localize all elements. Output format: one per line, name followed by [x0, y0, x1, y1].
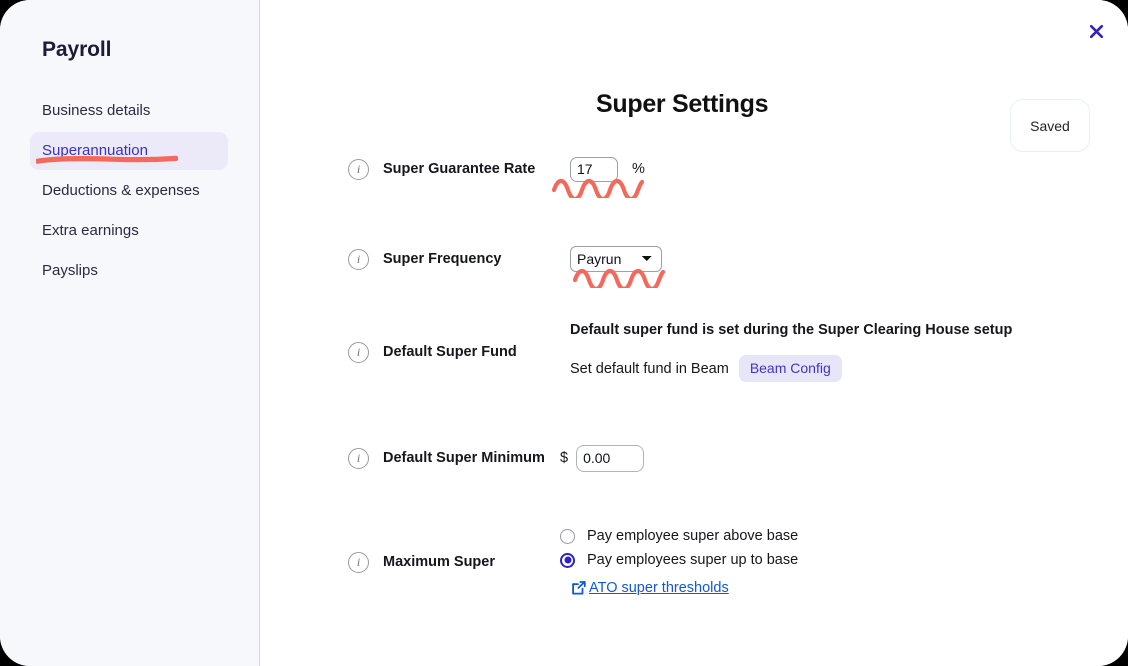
sidebar-item-label: Superannuation	[42, 142, 148, 159]
info-icon[interactable]: i	[348, 448, 369, 469]
row-label: Maximum Super	[383, 554, 495, 570]
percent-unit-label: %	[632, 161, 645, 177]
sidebar-item-label: Business details	[42, 102, 150, 119]
main-panel: Super Settings Saved i Super Guarantee R…	[260, 0, 1128, 666]
default-super-fund-headline: Default super fund is set during the Sup…	[570, 322, 1012, 338]
row-label: Default Super Minimum	[383, 450, 545, 466]
currency-symbol: $	[560, 450, 568, 466]
radio-label: Pay employees super up to base	[587, 552, 798, 568]
row-default-super-fund: i Default Super Fund Default super fund …	[348, 304, 1128, 400]
super-frequency-select[interactable]: Payrun	[570, 246, 662, 272]
row-control: Pay employee super above base Pay employ…	[560, 528, 798, 596]
row-super-guarantee-rate: i Super Guarantee Rate %	[348, 142, 1128, 196]
sidebar-item-label: Extra earnings	[42, 222, 139, 239]
default-super-fund-subtext: Set default fund in Beam	[570, 361, 729, 377]
row-control: Payrun	[570, 246, 662, 272]
close-icon[interactable]	[1084, 19, 1108, 43]
beam-config-button[interactable]: Beam Config	[739, 355, 842, 382]
radio-icon-checked[interactable]	[560, 553, 575, 568]
radio-pay-employees-super-up-to-base[interactable]: Pay employees super up to base	[560, 552, 798, 568]
row-super-frequency: i Super Frequency Payrun	[348, 220, 1128, 298]
ato-link-label: ATO super thresholds	[589, 580, 729, 596]
info-icon[interactable]: i	[348, 342, 369, 363]
external-link-icon	[572, 581, 586, 595]
saved-button-label: Saved	[1030, 118, 1070, 134]
sidebar-nav: Business details Superannuation Deductio…	[0, 92, 259, 290]
sidebar-item-label: Deductions & expenses	[42, 182, 200, 199]
maximum-super-radio-group: Pay employee super above base Pay employ…	[560, 528, 798, 596]
settings-rows: i Super Guarantee Rate % i Super Frequen…	[348, 142, 1128, 612]
external-link-icon-glyph	[572, 581, 586, 595]
ato-super-thresholds-link[interactable]: ATO super thresholds	[572, 580, 798, 596]
row-default-super-minimum: i Default Super Minimum $	[348, 428, 1128, 488]
radio-icon-unchecked[interactable]	[560, 529, 575, 544]
row-label-group: i Super Guarantee Rate	[348, 159, 570, 180]
sidebar-item-extra-earnings[interactable]: Extra earnings	[30, 212, 228, 250]
row-control: $	[560, 445, 644, 472]
sidebar: Payroll Business details Superannuation …	[0, 0, 260, 666]
radio-pay-employee-super-above-base[interactable]: Pay employee super above base	[560, 528, 798, 544]
payroll-settings-modal: Payroll Business details Superannuation …	[0, 0, 1128, 666]
sidebar-item-payslips[interactable]: Payslips	[30, 252, 228, 290]
default-super-fund-subline: Set default fund in Beam Beam Config	[570, 355, 1012, 382]
sidebar-item-business-details[interactable]: Business details	[30, 92, 228, 130]
row-label: Default Super Fund	[383, 344, 517, 360]
row-control: %	[570, 157, 645, 182]
close-icon-glyph	[1089, 24, 1104, 39]
super-guarantee-rate-input[interactable]	[570, 157, 618, 182]
sidebar-title: Payroll	[0, 38, 259, 62]
row-label: Super Frequency	[383, 251, 501, 267]
info-icon[interactable]: i	[348, 159, 369, 180]
row-label: Super Guarantee Rate	[383, 161, 535, 177]
sidebar-item-deductions-expenses[interactable]: Deductions & expenses	[30, 172, 228, 210]
row-label-group: i Maximum Super	[348, 552, 570, 573]
sidebar-item-label: Payslips	[42, 262, 98, 279]
info-icon[interactable]: i	[348, 552, 369, 573]
row-label-group: i Default Super Minimum	[348, 448, 570, 469]
row-label-group: i Default Super Fund	[348, 342, 570, 363]
row-label-group: i Super Frequency	[348, 249, 570, 270]
row-maximum-super: i Maximum Super Pay employee super above…	[348, 512, 1128, 612]
radio-label: Pay employee super above base	[587, 528, 798, 544]
default-super-fund-block: Default super fund is set during the Sup…	[570, 322, 1012, 382]
default-super-minimum-input[interactable]	[576, 445, 644, 472]
info-icon[interactable]: i	[348, 249, 369, 270]
sidebar-item-superannuation[interactable]: Superannuation	[30, 132, 228, 170]
page-title: Super Settings	[596, 90, 768, 119]
row-control: Default super fund is set during the Sup…	[570, 322, 1012, 382]
